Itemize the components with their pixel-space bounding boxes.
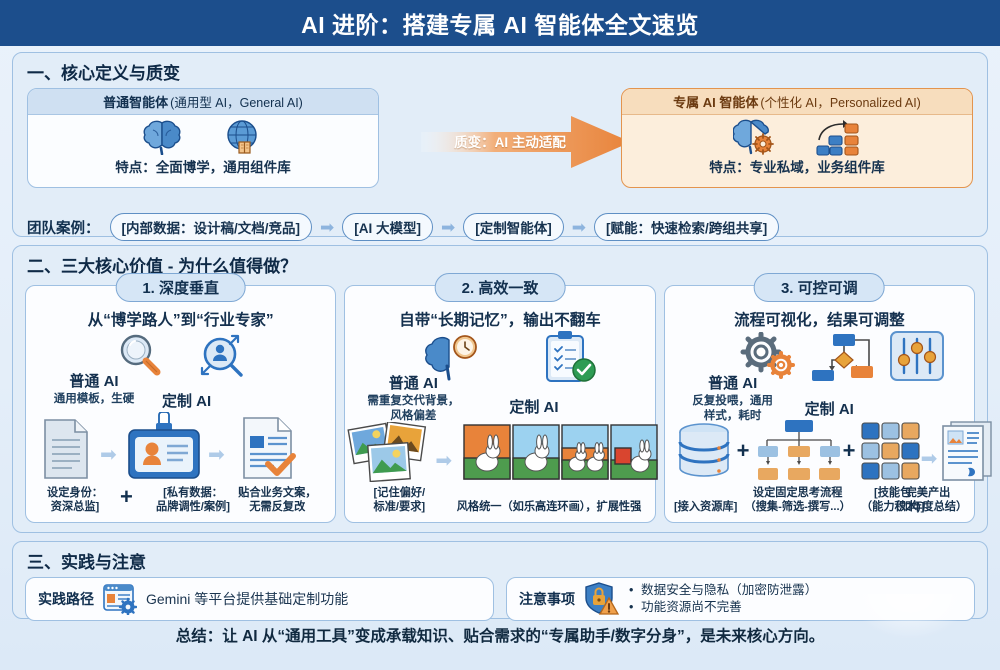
sliders-icon — [889, 330, 945, 382]
document-check-icon — [240, 416, 296, 480]
special-agent-feature: 特点：专业私域，业务组件库 — [622, 156, 972, 176]
flow-arrow-icon: ➡ — [441, 219, 455, 236]
document-icon — [40, 418, 92, 480]
value-card-3-subtitle: 流程可视化，结果可调整 — [665, 308, 974, 330]
notice-box: 注意事项 •数据安全与隐私（加密防泄露） •功能资源尚不完善 — [506, 577, 975, 621]
value-card-controllable: 3. 可控可调 流程可视化，结果可调整 — [664, 285, 975, 523]
general-agent-title: 普通智能体 — [103, 92, 168, 111]
value-card-3-normal-desc-l1: 反复投喂，通用 — [673, 394, 793, 408]
value-card-2-caption-right: 风格统一（如乐高连环画），扩展性强 — [445, 500, 652, 514]
general-agent-icons — [28, 115, 378, 157]
value-card-deep-vertical: 1. 深度垂直 从“博学路人”到“行业专家” — [25, 285, 336, 523]
value-card-1-caption-left: 设定身份： 资深总监] — [32, 486, 118, 514]
rabbit-frames-icon — [463, 424, 659, 480]
value-card-2-custom-label: 定制 AI — [509, 396, 558, 417]
section-core-definition: 一、核心定义与质变 普通智能体 (通用型 AI，General AI) — [12, 52, 988, 237]
value-card-1-normal-desc: 通用模板，生硬 — [34, 392, 154, 406]
team-case-step-1[interactable]: [内部数据：设计稿/文档/竞品] — [110, 213, 313, 241]
general-agent-feature: 特点：全面博学，通用组件库 — [28, 156, 378, 176]
team-case-step-2[interactable]: [AI 大模型] — [342, 213, 433, 241]
flow-arrow-icon: ➡ — [208, 442, 225, 467]
plus-sign: + — [120, 484, 133, 510]
globe-book-icon — [223, 118, 265, 156]
value-card-3-caption-4: 完美产出 （如年度总结） — [882, 486, 974, 514]
flow-arrow-icon: ➡ — [572, 219, 586, 236]
value-card-3-custom-label: 定制 AI — [805, 398, 854, 419]
value-card-1-normal-label: 普通 AI — [34, 370, 154, 391]
special-agent-card: 专属 AI 智能体 (个性化 AI，Personalized AI) — [621, 88, 973, 188]
notice-list: •数据安全与隐私（加密防泄露） •功能资源尚不完善 — [629, 582, 817, 617]
general-agent-subtitle: (通用型 AI，General AI) — [170, 92, 303, 111]
special-agent-subtitle: (个性化 AI，Personalized AI) — [760, 92, 920, 111]
team-case-step-3[interactable]: [定制智能体] — [463, 213, 564, 241]
section-practice-and-notes: 三、实践与注意 实践路径 — [12, 541, 988, 619]
special-agent-card-header: 专属 AI 智能体 (个性化 AI，Personalized AI) — [622, 89, 972, 115]
id-badge-icon — [126, 412, 202, 480]
value-card-2-normal-desc-l1: 需重复交代背景， — [353, 394, 473, 408]
person-search-icon — [194, 330, 250, 382]
practice-path-label: 实践路径 — [38, 589, 94, 609]
general-agent-card: 普通智能体 (通用型 AI，General AI) — [27, 88, 379, 188]
section3-title: 三、实践与注意 — [13, 542, 987, 577]
flowchart-icon — [809, 334, 875, 382]
special-agent-icons — [622, 115, 972, 157]
practice-path-box: 实践路径 Gemini 等平台提供基础定 — [25, 577, 494, 621]
team-case-step-4[interactable]: [赋能：快速检索/跨组共享] — [594, 213, 779, 241]
notice-item-2: •功能资源尚不完善 — [629, 599, 817, 616]
infographic-page: AI 进阶：搭建专属 AI 智能体全文速览 一、核心定义与质变 普通智能体 (通… — [0, 0, 1000, 670]
value-card-2-normal-block: 普通 AI 需重复交代背景， 风格偏差 — [353, 372, 473, 424]
value-card-1-custom-label: 定制 AI — [162, 390, 211, 411]
page-title: AI 进阶：搭建专属 AI 智能体全文速览 — [301, 6, 699, 40]
general-agent-card-body: 特点：全面博学，通用组件库 — [28, 115, 378, 188]
value-card-1-pill: 1. 深度垂直 — [115, 273, 246, 302]
value-cards-row: 1. 深度垂直 从“博学路人”到“行业专家” — [13, 281, 987, 523]
value-card-2-body: 普通 AI 需重复交代背景， 风格偏差 定制 AI — [345, 330, 654, 518]
team-case-label: 团队案例： — [27, 217, 100, 238]
section3-row: 实践路径 Gemini 等平台提供基础定 — [13, 577, 987, 621]
browser-gear-icon — [103, 583, 137, 615]
section1-title: 一、核心定义与质变 — [13, 53, 987, 88]
value-card-1-subtitle: 从“博学路人”到“行业专家” — [26, 308, 335, 330]
shield-lock-warning-icon — [584, 582, 620, 616]
brain-icon — [141, 119, 183, 155]
flow-arrow-icon: ➡ — [435, 448, 452, 473]
flow-arrow-icon: ➡ — [100, 442, 117, 467]
value-card-3-body: 普通 AI 反复投喂，通用 样式，耗时 定制 AI — [665, 330, 974, 518]
team-case-row: 团队案例： [内部数据：设计稿/文档/竞品] ➡ [AI 大模型] ➡ [定制智… — [13, 210, 987, 244]
transition-arrow-label: 质变：AI 主动适配 — [435, 131, 585, 151]
transition-arrow: 质变：AI 主动适配 — [421, 114, 633, 170]
flow-arrow-icon: ➡ — [320, 219, 334, 236]
value-card-3-caption-1: [接入资源库] — [667, 500, 745, 514]
value-card-3-normal-label: 普通 AI — [673, 372, 793, 393]
value-card-2-caption-left: [记住偏好/ 标准/要求] — [351, 486, 447, 514]
flow-arrow-icon: ➡ — [921, 446, 938, 471]
value-card-2-subtitle: 自带“长期记忆”，输出不翻车 — [345, 308, 654, 330]
plus-sign: + — [737, 438, 750, 464]
blocks-grid-icon — [861, 422, 921, 480]
section-core-values: 二、三大核心价值 - 为什么值得做？ 1. 深度垂直 从“博学路人”到“行业专家… — [12, 245, 988, 533]
plus-sign: + — [843, 438, 856, 464]
value-card-1-normal-block: 普通 AI 通用模板，生硬 — [34, 370, 154, 406]
database-icon — [675, 422, 733, 480]
general-agent-card-header: 普通智能体 (通用型 AI，General AI) — [28, 89, 378, 115]
checklist-icon — [539, 330, 597, 384]
value-card-efficient-consistent: 2. 高效一致 自带“长期记忆”，输出不翻车 — [344, 285, 655, 523]
brain-gear-icon — [733, 118, 775, 156]
value-card-3-pill: 3. 可控可调 — [754, 273, 885, 302]
notice-item-1: •数据安全与隐私（加密防泄露） — [629, 582, 817, 599]
page-title-banner: AI 进阶：搭建专属 AI 智能体全文速览 — [0, 0, 1000, 46]
special-agent-card-body: 特点：专业私域，业务组件库 — [622, 115, 972, 188]
value-card-2-pill: 2. 高效一致 — [435, 273, 566, 302]
special-agent-title: 专属 AI 智能体 — [673, 92, 758, 111]
value-card-1-caption-right: 贴合业务文案， 无需反复改 — [221, 486, 333, 514]
tree-chart-icon — [757, 420, 841, 482]
value-card-2-normal-label: 普通 AI — [353, 372, 473, 393]
value-card-3-caption-2: 设定固定思考流程 （搜集-筛选-撰写...） — [743, 486, 853, 514]
value-card-3-normal-block: 普通 AI 反复投喂，通用 样式，耗时 — [673, 372, 793, 424]
org-nodes-icon — [815, 118, 861, 156]
section1-body: 普通智能体 (通用型 AI，General AI) — [13, 88, 987, 210]
notice-label: 注意事项 — [519, 589, 575, 609]
practice-path-text: Gemini 等平台提供基础定制功能 — [146, 589, 348, 609]
photo-stack-icon — [347, 422, 433, 482]
value-card-1-body: 普通 AI 通用模板，生硬 定制 AI ➡ — [26, 330, 335, 518]
report-doc-icon — [941, 420, 995, 482]
summary-line: 总结：让 AI 从“通用工具”变成承载知识、贴合需求的“专属助手/数字分身”，是… — [0, 624, 1000, 646]
